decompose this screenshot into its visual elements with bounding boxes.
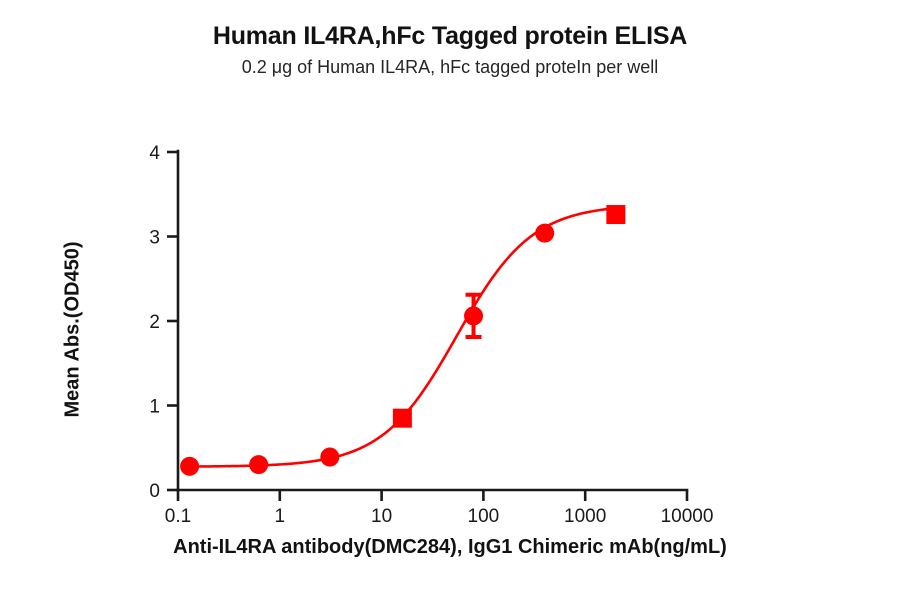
y-tick-label: 2 (149, 312, 160, 333)
x-tick-label: 0.1 (165, 506, 191, 527)
dose-response-fit-curve (190, 208, 616, 466)
data-point-circle (464, 306, 483, 325)
data-point-square (606, 205, 625, 224)
elisa-chart-figure: Human IL4RA,hFc Tagged protein ELISA 0.2… (0, 0, 900, 594)
x-tick-label: 10 (371, 506, 392, 527)
data-point-circle (320, 448, 339, 467)
plot-area: 01234 0.1110100100010000 Mean Abs.(OD450… (0, 0, 900, 594)
x-tick-label: 1 (275, 506, 286, 527)
y-tick-label: 3 (149, 228, 160, 249)
x-tick-label: 100 (468, 506, 500, 527)
data-point-circle (535, 224, 554, 243)
y-tick-label: 1 (149, 397, 160, 418)
data-point-circle (180, 457, 199, 476)
x-tick-label: 1000 (564, 506, 606, 527)
x-axis-title: Anti-IL4RA antibody(DMC284), IgG1 Chimer… (0, 536, 900, 559)
x-axis-ticks: 0.1110100100010000 (165, 490, 714, 527)
y-axis-ticks: 01234 (149, 143, 178, 502)
fit-curve-group (190, 208, 616, 466)
data-point-circle (249, 455, 268, 474)
data-markers-group (180, 205, 625, 476)
axes-group (177, 151, 687, 490)
x-tick-label: 10000 (661, 506, 714, 527)
y-axis-title: Mean Abs.(OD450) (62, 180, 85, 480)
y-tick-label: 4 (149, 143, 160, 164)
data-point-square (393, 409, 412, 428)
plot-svg: 01234 0.1110100100010000 (0, 0, 900, 594)
y-tick-label: 0 (149, 481, 160, 502)
